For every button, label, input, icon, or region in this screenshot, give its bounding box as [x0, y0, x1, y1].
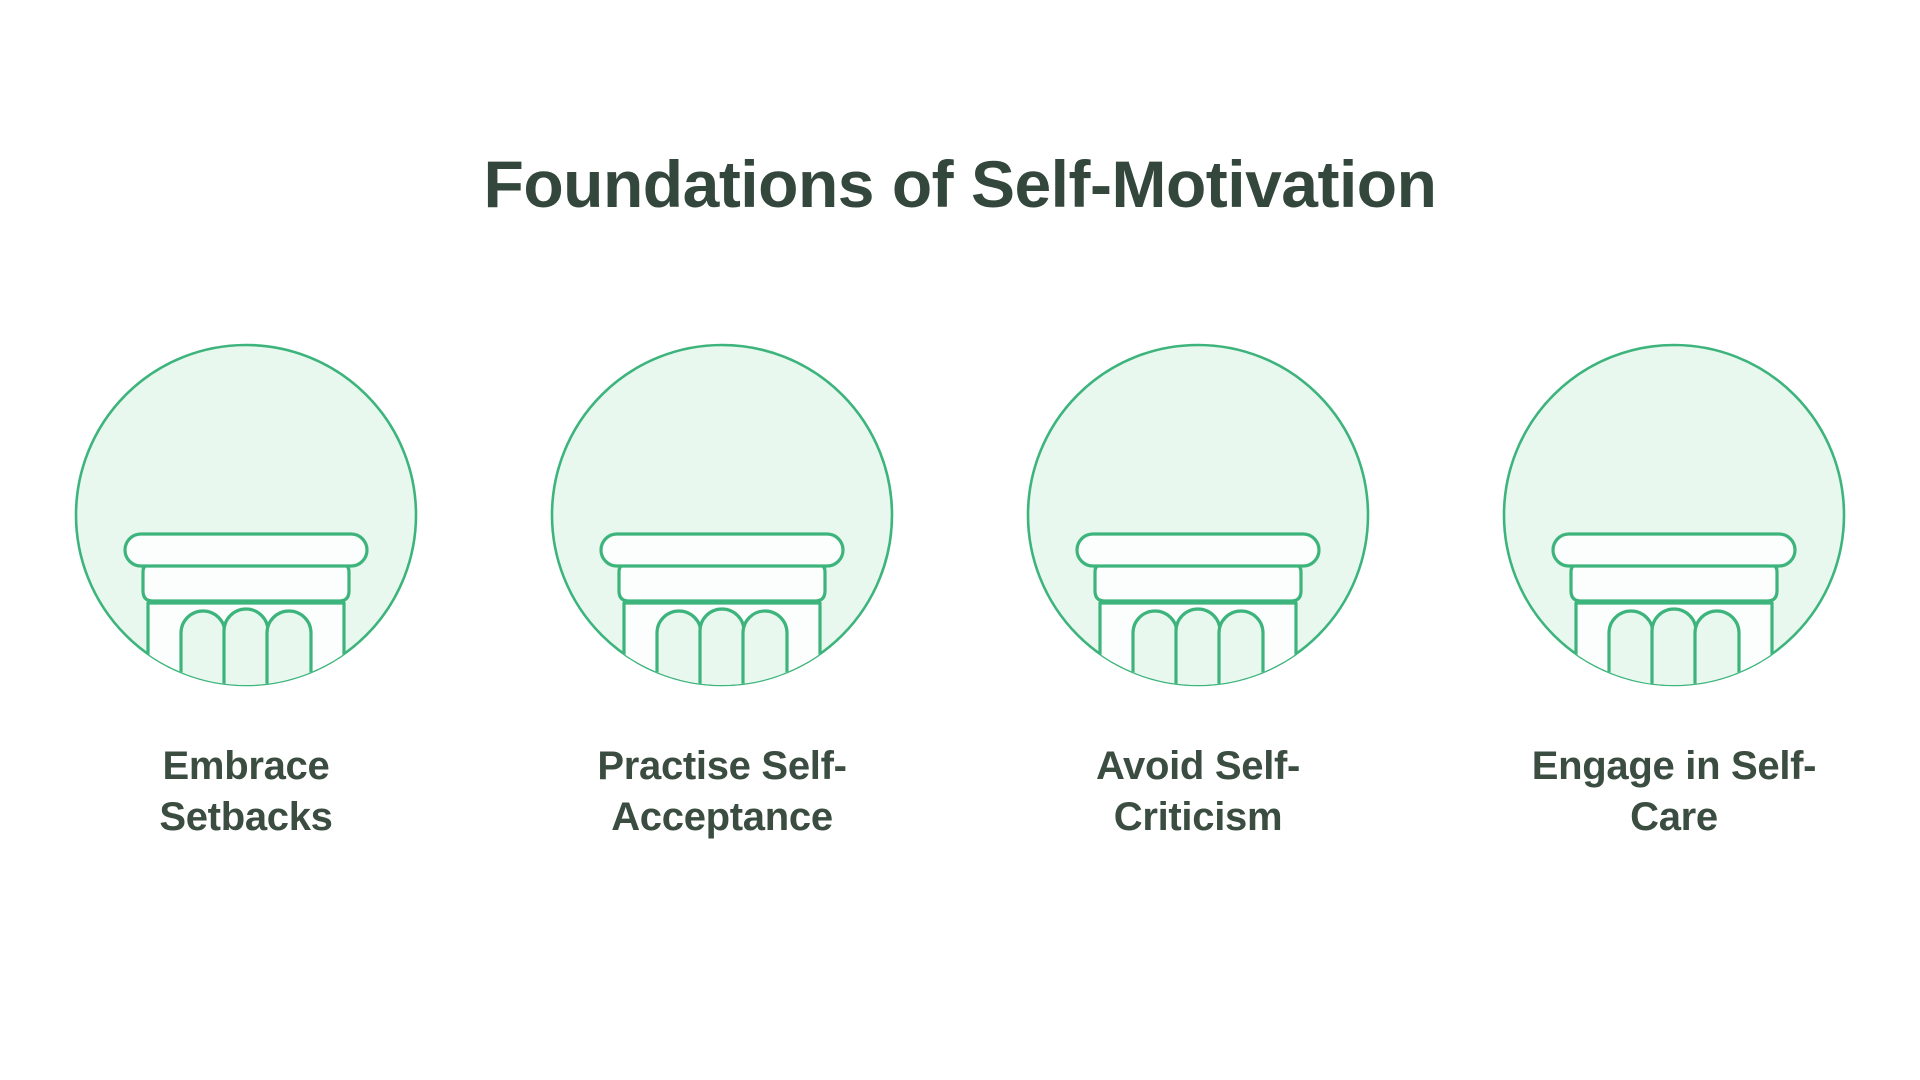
slide-root: Foundations of Self-Motivation	[0, 0, 1920, 1080]
pillar-card-label: Avoid Self-Criticism	[1048, 741, 1348, 843]
pillar-card[interactable]: Practise Self-Acceptance	[550, 343, 894, 843]
pillar-card[interactable]: Engage in Self-Care	[1502, 343, 1846, 843]
pillar-card-label: Engage in Self-Care	[1524, 741, 1824, 843]
greek-pillar-icon	[1026, 343, 1370, 711]
pillar-cards-row: Embrace Setbacks	[0, 343, 1920, 843]
page-title: Foundations of Self-Motivation	[484, 148, 1437, 221]
pillar-card-label: Practise Self-Acceptance	[572, 741, 872, 843]
greek-pillar-icon	[1502, 343, 1846, 711]
pillar-card[interactable]: Avoid Self-Criticism	[1026, 343, 1370, 843]
greek-pillar-icon	[550, 343, 894, 711]
pillar-card[interactable]: Embrace Setbacks	[74, 343, 418, 843]
greek-pillar-icon	[74, 343, 418, 711]
pillar-card-label: Embrace Setbacks	[96, 741, 396, 843]
